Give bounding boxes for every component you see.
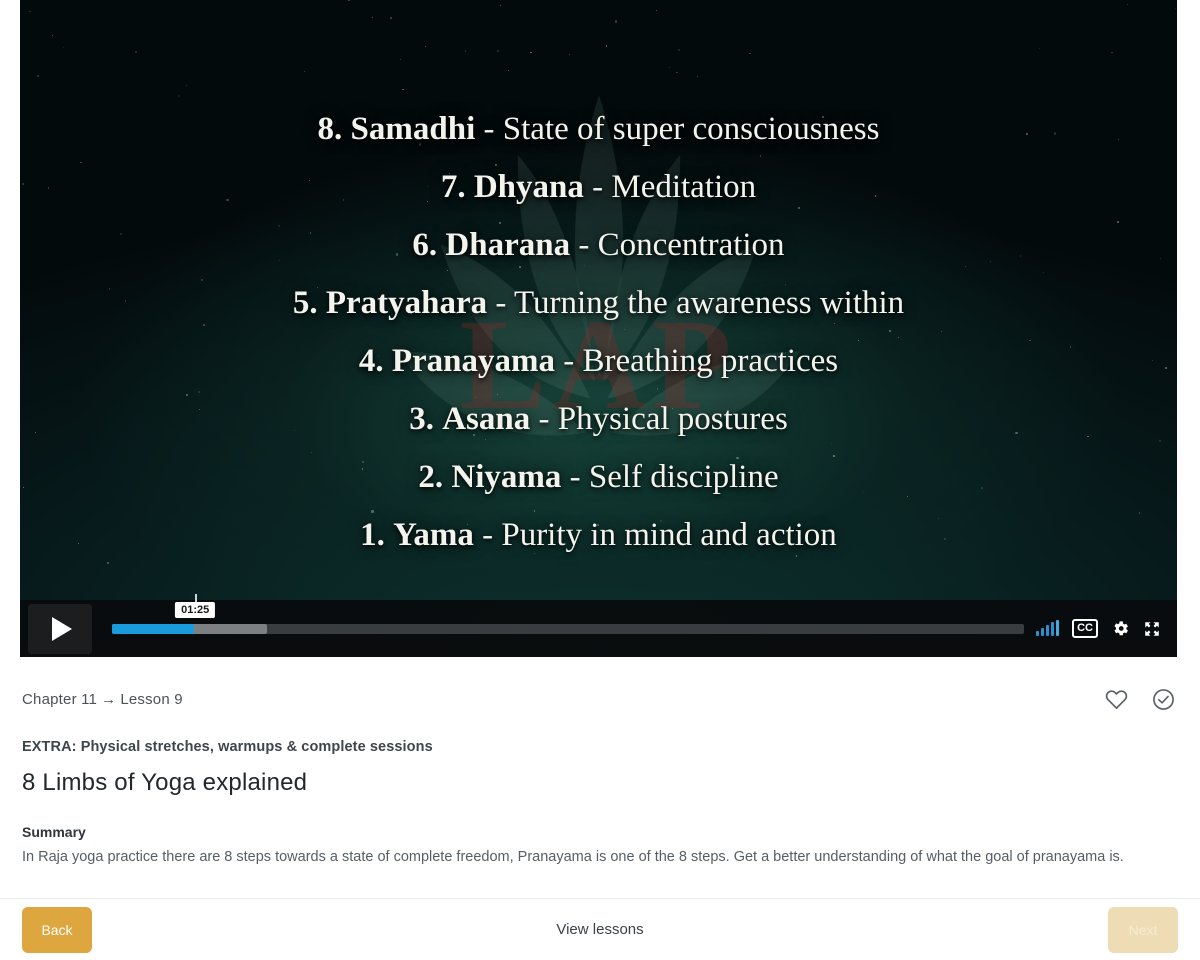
summary-text: In Raja yoga practice there are 8 steps … — [22, 846, 1162, 869]
limb-description: Concentration — [598, 227, 785, 263]
progress-area[interactable]: 01:25 — [112, 600, 1036, 657]
limb-description: Turning the awareness within — [514, 285, 904, 321]
back-button[interactable]: Back — [22, 907, 92, 953]
video-controls-right: CC — [1036, 619, 1177, 638]
breadcrumb[interactable]: Chapter 11→Lesson 9 — [22, 691, 183, 708]
limb-description: Breathing practices — [583, 343, 839, 379]
heart-icon[interactable] — [1104, 687, 1129, 712]
limb-number: 5. — [293, 285, 318, 321]
play-button[interactable] — [28, 604, 92, 654]
next-button: Next — [1108, 907, 1178, 953]
summary-label: Summary — [22, 824, 1178, 840]
eight-limbs-list: 8. Samadhi - State of super consciousnes… — [20, 100, 1177, 564]
video-controls-bar[interactable]: 01:25 CC — [20, 600, 1177, 657]
limb-line: 8. Samadhi - State of super consciousnes… — [20, 100, 1177, 158]
limb-separator: - — [538, 401, 549, 437]
limb-term: Pratyahara — [326, 285, 487, 321]
limb-separator: - — [563, 343, 574, 379]
limb-number: 1. — [360, 517, 385, 553]
limb-line: 7. Dhyana - Meditation — [20, 158, 1177, 216]
volume-bars-icon[interactable] — [1036, 621, 1059, 636]
lesson-info: Chapter 11→Lesson 9 EXTRA: Physical stre… — [0, 657, 1200, 869]
progress-track[interactable] — [112, 624, 1024, 634]
play-icon — [52, 617, 72, 641]
breadcrumb-row: Chapter 11→Lesson 9 — [22, 687, 1178, 712]
limb-separator: - — [482, 517, 493, 553]
limb-number: 6. — [412, 227, 437, 263]
limb-number: 8. — [318, 111, 343, 147]
limb-line: 1. Yama - Purity in mind and action — [20, 506, 1177, 564]
limb-line: 3. Asana - Physical postures — [20, 390, 1177, 448]
page-title: 8 Limbs of Yoga explained — [22, 769, 1178, 797]
limb-term: Dharana — [445, 227, 570, 263]
limb-number: 2. — [418, 459, 443, 495]
breadcrumb-arrow-icon: → — [101, 691, 116, 708]
view-lessons-link[interactable]: View lessons — [556, 921, 643, 938]
limb-line: 4. Pranayama - Breathing practices — [20, 332, 1177, 390]
lesson-footer: Back View lessons Next — [0, 898, 1200, 960]
cc-icon[interactable]: CC — [1072, 619, 1098, 638]
breadcrumb-chapter[interactable]: Chapter 11 — [22, 691, 97, 708]
limb-term: Samadhi — [351, 111, 476, 147]
limb-separator: - — [578, 227, 589, 263]
limb-line: 5. Pratyahara - Turning the awareness wi… — [20, 274, 1177, 332]
limb-description: Physical postures — [558, 401, 788, 437]
gear-icon[interactable] — [1111, 619, 1130, 638]
limb-number: 3. — [409, 401, 434, 437]
limb-line: 6. Dharana - Concentration — [20, 216, 1177, 274]
current-time-tooltip: 01:25 — [175, 602, 215, 618]
limb-term: Niyama — [451, 459, 561, 495]
limb-separator: - — [484, 111, 495, 147]
limb-separator: - — [592, 169, 603, 205]
limb-description: Purity in mind and action — [501, 517, 836, 553]
fullscreen-icon[interactable] — [1143, 620, 1161, 638]
limb-description: Meditation — [611, 169, 756, 205]
limb-separator: - — [570, 459, 581, 495]
limb-term: Pranayama — [392, 343, 555, 379]
limb-number: 7. — [441, 169, 466, 205]
limb-term: Dhyana — [474, 169, 584, 205]
lesson-page: LAP 8. Samadhi - State of super consciou… — [0, 0, 1200, 960]
limb-number: 4. — [359, 343, 384, 379]
limb-line: 2. Niyama - Self discipline — [20, 448, 1177, 506]
limb-separator: - — [495, 285, 506, 321]
limb-term: Asana — [442, 401, 530, 437]
breadcrumb-lesson[interactable]: Lesson 9 — [120, 691, 182, 708]
limb-description: Self discipline — [589, 459, 779, 495]
limb-description: State of super consciousness — [503, 111, 880, 147]
progress-played — [112, 624, 194, 634]
lesson-actions — [1104, 687, 1178, 712]
lesson-kicker: EXTRA: Physical stretches, warmups & com… — [22, 739, 1178, 755]
check-circle-icon[interactable] — [1151, 687, 1176, 712]
limb-term: Yama — [393, 517, 474, 553]
video-player[interactable]: LAP 8. Samadhi - State of super consciou… — [20, 0, 1177, 657]
